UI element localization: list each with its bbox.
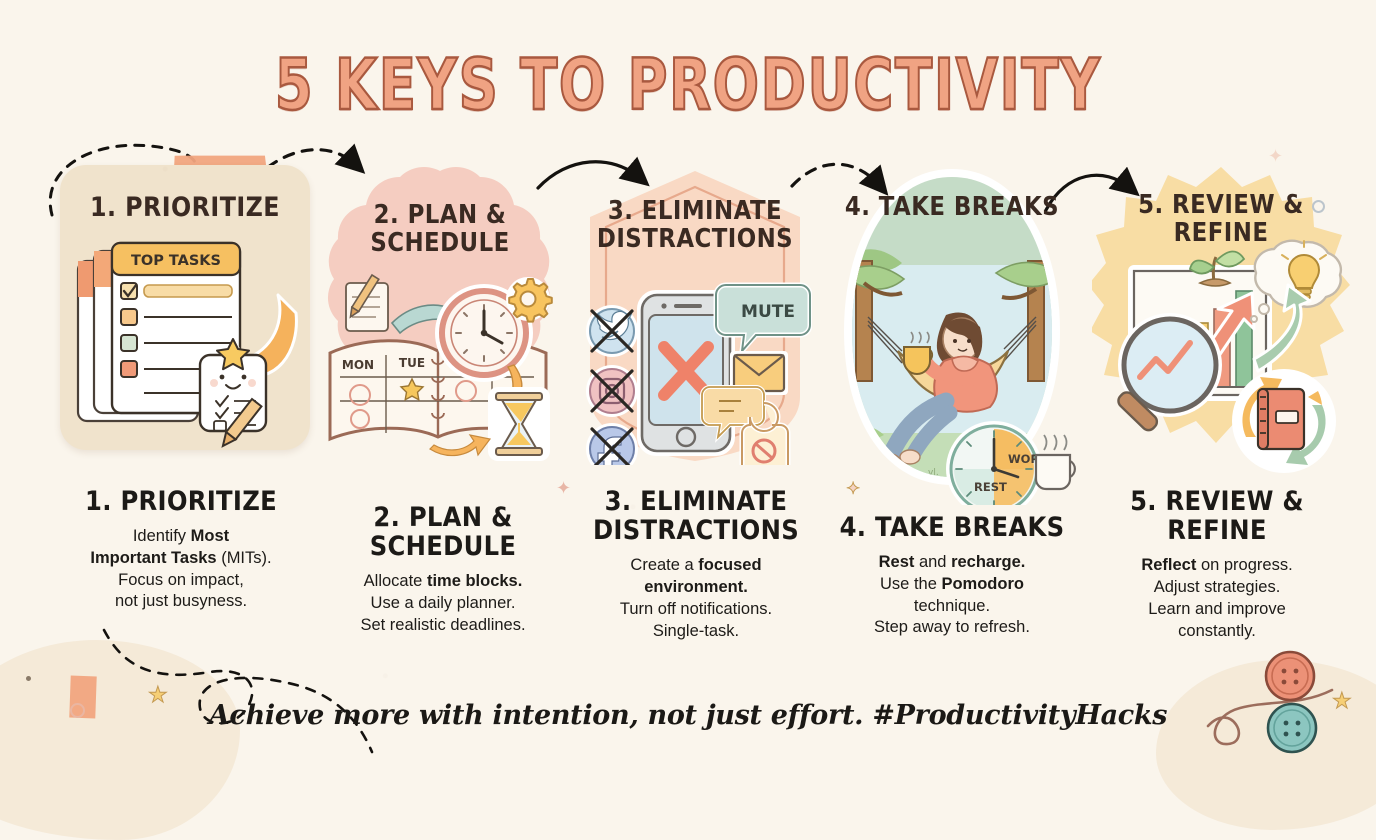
dot-bottom-left [26, 676, 31, 681]
caption-4-heading: 4. TAKE BREAKS [837, 513, 1067, 542]
caption-eliminate-distractions: 3. ELIMINATE DISTRACTIONS Create a focus… [574, 487, 818, 642]
caption-2-body: Allocate time blocks.Use a daily planner… [318, 571, 568, 636]
panel-review-refine[interactable]: 5. REVIEW & REFINE [1092, 165, 1350, 475]
top-tasks-label: TOP TASKS [131, 253, 221, 269]
svg-text:vl.: vl. [928, 468, 939, 478]
star-panel4-left: ✦ [846, 480, 860, 497]
star-bottom-left: ★ [148, 684, 168, 706]
panel-prioritize[interactable]: 1. PRIORITIZE TOP TASKS [60, 165, 310, 465]
caption-review-refine: 5. REVIEW & REFINE Reflect on progress.A… [1086, 487, 1348, 642]
page-title: 5 KEYS TO PRODUCTIVITY [151, 44, 1224, 126]
caption-5-body: Reflect on progress.Adjust strategies.Le… [1086, 555, 1348, 642]
panel-eliminate-distractions[interactable]: 3. ELIMINATE DISTRACTIONS [578, 165, 812, 465]
day-tue: TUE [399, 356, 425, 370]
footer-tagline: Achieve more with intention, not just ef… [0, 700, 1376, 731]
panel-5-art [1092, 165, 1350, 475]
panel-1-art: TOP TASKS [60, 165, 310, 465]
caption-1-heading: 1. PRIORITIZE [51, 487, 312, 516]
caption-4-body: Rest and recharge.Use the Pomodorotechni… [824, 552, 1080, 639]
caption-5-heading: 5. REVIEW & REFINE [1099, 487, 1335, 545]
sparkle-top-right: ✦ [1268, 146, 1283, 167]
star-bottom-right: ★ [1332, 690, 1352, 712]
day-mon: MON [342, 358, 374, 372]
panel-3-art: MUTE [578, 165, 812, 465]
crossed-social-icons [586, 305, 638, 465]
caption-2-heading: 2. PLAN & SCHEDULE [331, 503, 556, 561]
sparkle-panel2: ✦ [556, 478, 571, 499]
caption-take-breaks: 4. TAKE BREAKS Rest and recharge.Use the… [824, 513, 1080, 639]
caption-plan-schedule: 2. PLAN & SCHEDULE Allocate time blocks.… [318, 503, 568, 637]
infographic-canvas: 5 KEYS TO PRODUCTIVITY 1. PRIORITIZE [0, 0, 1376, 768]
panel-plan-schedule[interactable]: 2. PLAN & SCHEDULE [318, 165, 562, 465]
panel-take-breaks[interactable]: 4. TAKE BREAKS [828, 165, 1076, 505]
ring-top-right [1312, 200, 1325, 213]
mute-label: MUTE [741, 302, 795, 322]
panels-row: 1. PRIORITIZE TOP TASKS [0, 165, 1376, 485]
captions-row: 1. PRIORITIZE Identify MostImportant Tas… [0, 487, 1376, 677]
background-blob-bottom-right [1156, 660, 1376, 830]
caption-3-heading: 3. ELIMINATE DISTRACTIONS [586, 487, 806, 545]
caption-1-body: Identify MostImportant Tasks (MITs).Focu… [36, 526, 326, 613]
panel-2-art: MON TUE WED [318, 165, 562, 465]
caption-prioritize: 1. PRIORITIZE Identify MostImportant Tas… [36, 487, 326, 613]
caption-3-body: Create a focusedenvironment.Turn off not… [574, 555, 818, 642]
panel-4-art: vl. WORK REST [828, 165, 1076, 505]
ring-bottom-left [70, 703, 85, 718]
